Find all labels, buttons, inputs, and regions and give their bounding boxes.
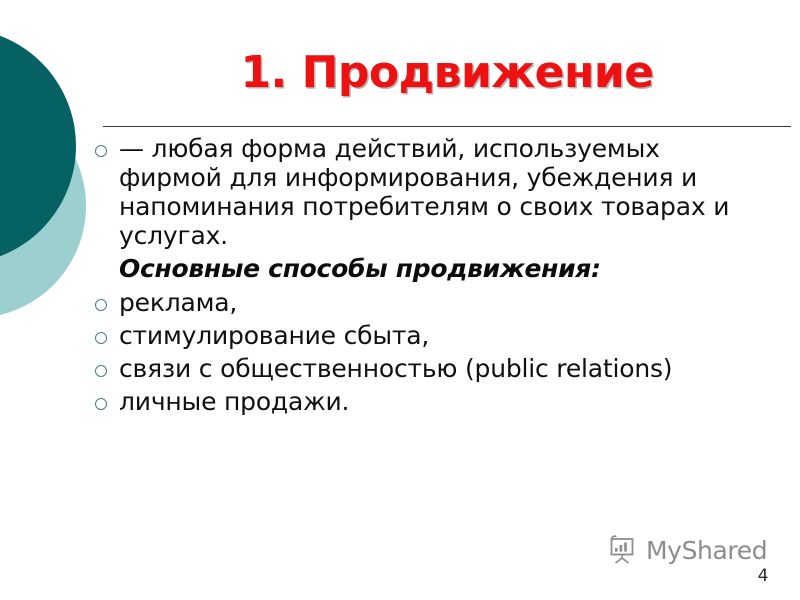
- list-item-definition: — любая форма действий, используемых фир…: [95, 134, 735, 250]
- slide-title: 1. Продвижение: [103, 50, 791, 96]
- heading-indent-spacer: [95, 254, 119, 275]
- section-heading-row: Основные способы продвижения:: [95, 254, 735, 284]
- list-item-label: реклама,: [119, 288, 735, 317]
- hollow-circle-bullet-icon: [95, 354, 119, 377]
- list-item-label: стимулирование сбыта,: [119, 321, 735, 350]
- flipchart-bar-chart-icon: [605, 533, 639, 567]
- hollow-circle-bullet-icon: [95, 387, 119, 410]
- title-divider: [103, 126, 791, 127]
- slide-canvas: 1. Продвижение — любая форма действий, и…: [0, 0, 800, 600]
- title-block: 1. Продвижение: [103, 50, 791, 96]
- list-item: личные продажи.: [95, 387, 735, 416]
- hollow-circle-bullet-icon: [95, 321, 119, 344]
- hollow-circle-bullet-icon: [95, 134, 119, 157]
- hollow-circle-bullet-icon: [95, 288, 119, 311]
- page-number: 4: [748, 566, 778, 586]
- list-item-label: связи с общественностью (public relation…: [119, 354, 735, 383]
- list-item: стимулирование сбыта,: [95, 321, 735, 350]
- definition-text: — любая форма действий, используемых фир…: [119, 134, 735, 250]
- section-heading: Основные способы продвижения:: [119, 254, 735, 284]
- list-item: связи с общественностью (public relation…: [95, 354, 735, 383]
- list-item: реклама,: [95, 288, 735, 317]
- slide-body: — любая форма действий, используемых фир…: [95, 134, 735, 416]
- list-item-label: личные продажи.: [119, 387, 735, 416]
- watermark-label: MyShared: [646, 536, 767, 565]
- watermark: MyShared: [605, 533, 767, 567]
